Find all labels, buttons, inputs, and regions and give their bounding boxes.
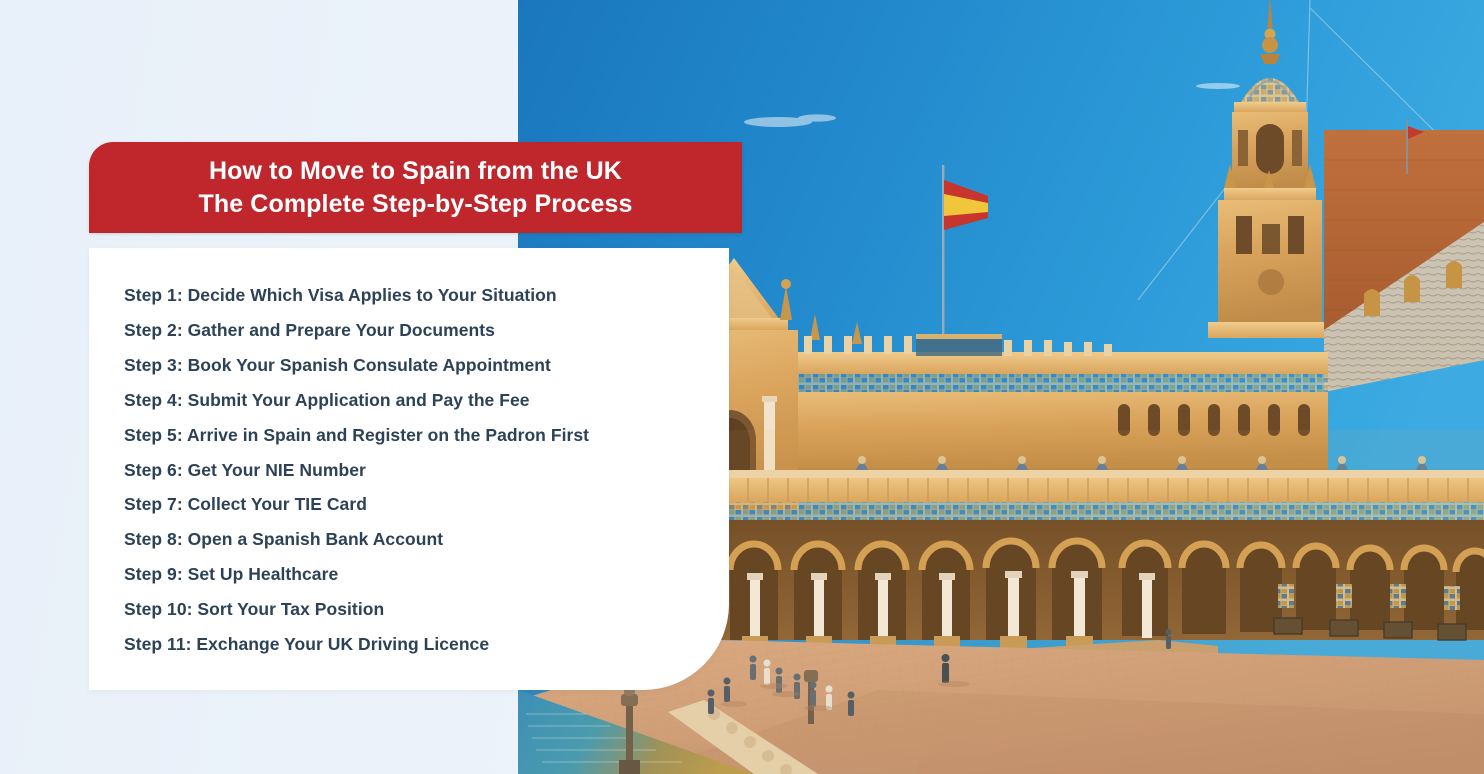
list-item: Step 8: Open a Spanish Bank Account	[124, 522, 729, 557]
list-item: Step 5: Arrive in Spain and Register on …	[124, 418, 729, 453]
steps-card: Step 1: Decide Which Visa Applies to You…	[89, 248, 729, 690]
title-banner: How to Move to Spain from the UK The Com…	[89, 142, 742, 233]
list-item: Step 7: Collect Your TIE Card	[124, 487, 729, 522]
list-item: Step 9: Set Up Healthcare	[124, 557, 729, 592]
list-item: Step 3: Book Your Spanish Consulate Appo…	[124, 348, 729, 383]
list-item: Step 6: Get Your NIE Number	[124, 453, 729, 488]
infographic-page: How to Move to Spain from the UK The Com…	[0, 0, 1484, 774]
list-item: Step 2: Gather and Prepare Your Document…	[124, 313, 729, 348]
list-item: Step 4: Submit Your Application and Pay …	[124, 383, 729, 418]
list-item: Step 10: Sort Your Tax Position	[124, 592, 729, 627]
banner-title-line-1: How to Move to Spain from the UK	[209, 155, 622, 188]
banner-title-line-2: The Complete Step-by-Step Process	[199, 188, 633, 221]
list-item: Step 1: Decide Which Visa Applies to You…	[124, 278, 729, 313]
steps-list: Step 1: Decide Which Visa Applies to You…	[124, 278, 729, 662]
list-item: Step 11: Exchange Your UK Driving Licenc…	[124, 627, 729, 662]
